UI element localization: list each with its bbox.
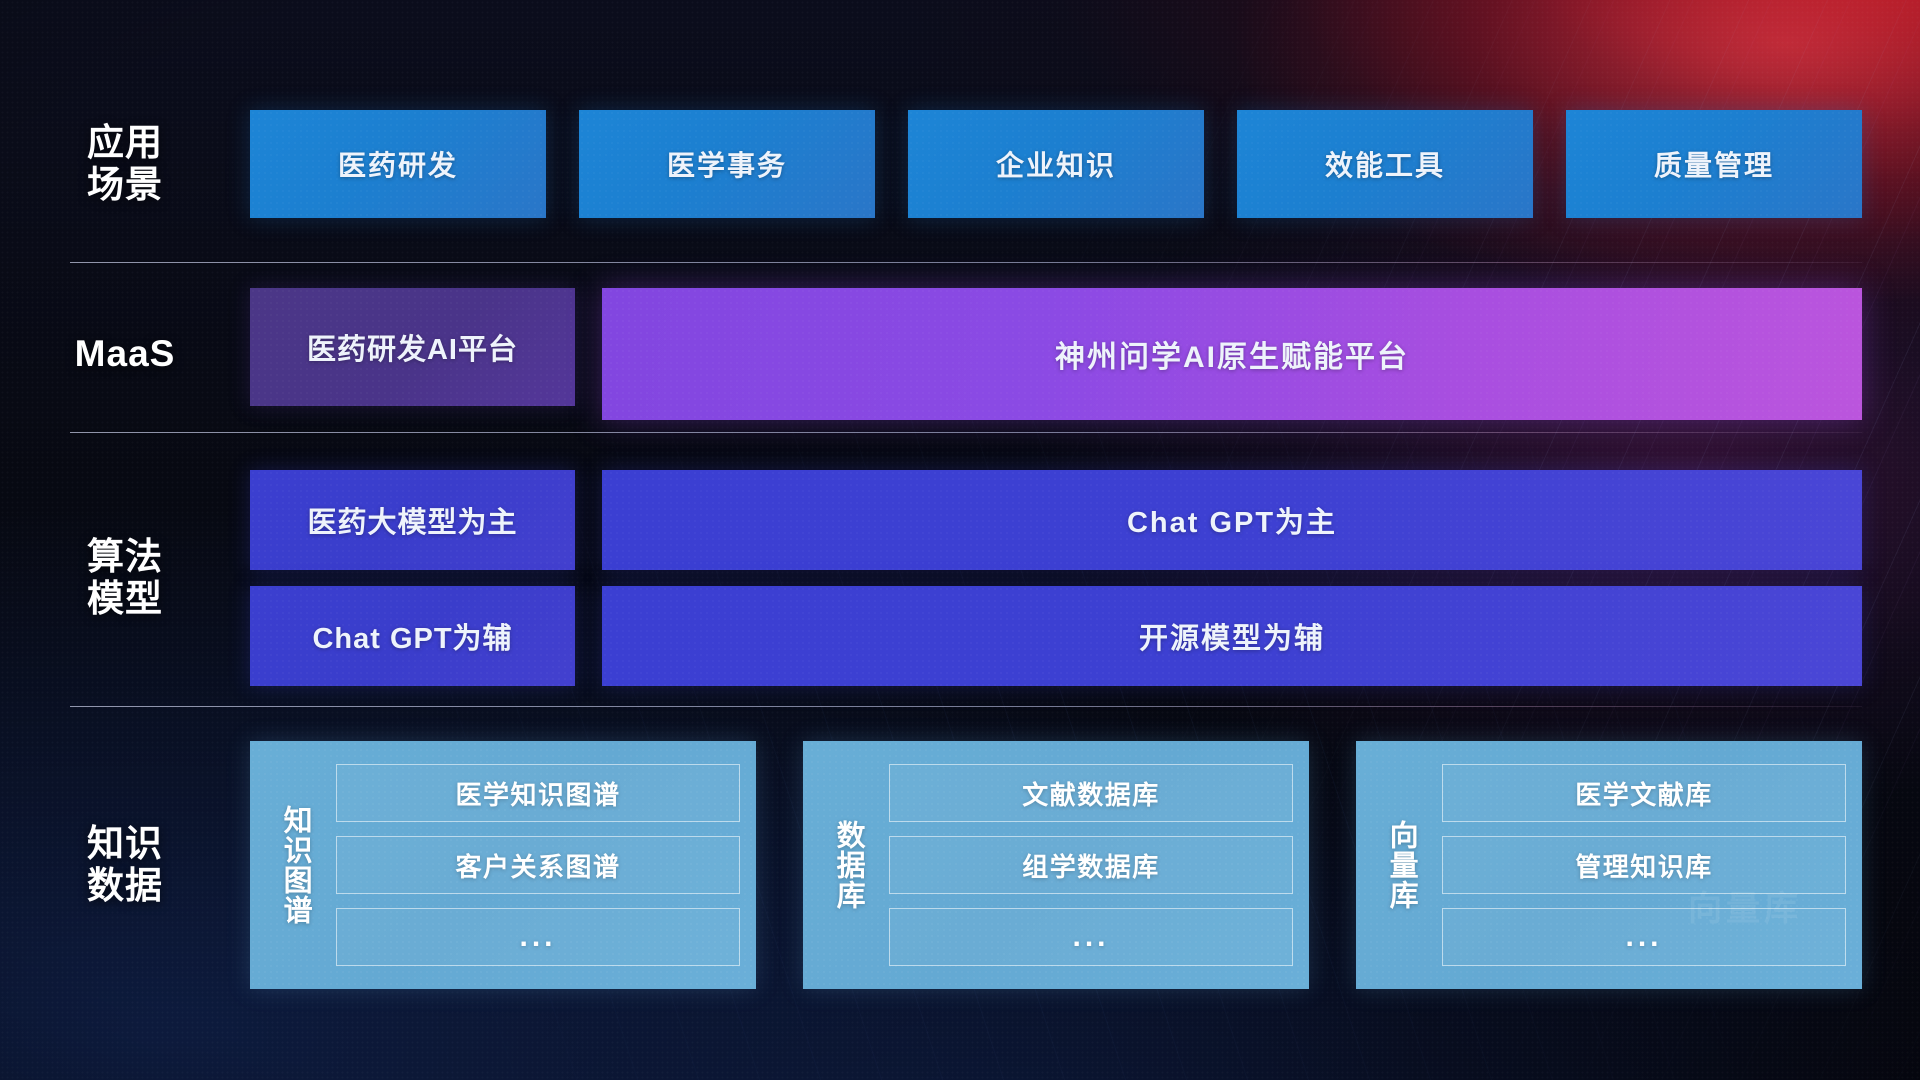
knowledge-item[interactable]: 管理知识库 (1442, 836, 1846, 894)
knowledge-item-more[interactable]: ... (1442, 908, 1846, 966)
knowledge-group-items: 文献数据库 组学数据库 ... (879, 764, 1293, 966)
knowledge-group-title: 数据库 (817, 755, 879, 975)
knowledge-item[interactable]: 医学文献库 (1442, 764, 1846, 822)
knowledge-group-vector-store[interactable]: 向量库 医学文献库 管理知识库 ... (1356, 741, 1862, 989)
app-card-efficiency-tools[interactable]: 效能工具 (1237, 110, 1533, 218)
row-algorithm-models: 算法 模型 医药大模型为主 Chat GPT为主 Chat GPT为辅 开源模型… (0, 460, 1920, 696)
knowledge-item[interactable]: 组学数据库 (889, 836, 1293, 894)
row-application-scenarios: 应用 场景 医药研发 医学事务 企业知识 效能工具 质量管理 (0, 110, 1920, 218)
algo-card-pharma-llm-primary[interactable]: 医药大模型为主 (250, 470, 575, 570)
algorithm-line-secondary: Chat GPT为辅 开源模型为辅 (250, 586, 1862, 686)
app-card-drug-rd[interactable]: 医药研发 (250, 110, 546, 218)
maas-card-label: 神州问学AI原生赋能平台 (1055, 332, 1409, 376)
algorithm-line-primary: 医药大模型为主 Chat GPT为主 (250, 470, 1862, 570)
app-card-quality-management[interactable]: 质量管理 (1566, 110, 1862, 218)
app-card-enterprise-knowledge[interactable]: 企业知识 (908, 110, 1204, 218)
divider-maas-algo (70, 432, 1862, 433)
app-card-label: 企业知识 (996, 144, 1116, 184)
row-label-knowledge-data: 知识 数据 (0, 823, 250, 907)
algo-card-label: 医药大模型为主 (307, 499, 517, 541)
row-label-algorithm-models: 算法 模型 (0, 536, 250, 620)
knowledge-group-title: 知识图谱 (264, 755, 326, 975)
app-card-label: 效能工具 (1325, 144, 1445, 184)
app-card-medical-affairs[interactable]: 医学事务 (579, 110, 875, 218)
algo-card-label: Chat GPT为辅 (312, 615, 512, 657)
knowledge-item[interactable]: 医学知识图谱 (336, 764, 740, 822)
knowledge-group-items: 医学知识图谱 客户关系图谱 ... (326, 764, 740, 966)
knowledge-group-items: 医学文献库 管理知识库 ... (1432, 764, 1846, 966)
knowledge-item[interactable]: 文献数据库 (889, 764, 1293, 822)
application-scenario-cards: 医药研发 医学事务 企业知识 效能工具 质量管理 (250, 110, 1920, 218)
knowledge-item-more[interactable]: ... (336, 908, 740, 966)
row-label-maas: MaaS (0, 333, 250, 375)
row-label-application-scenarios: 应用 场景 (0, 122, 250, 206)
knowledge-group-database[interactable]: 数据库 文献数据库 组学数据库 ... (803, 741, 1309, 989)
knowledge-item-more[interactable]: ... (889, 908, 1293, 966)
knowledge-data-groups: 知识图谱 医学知识图谱 客户关系图谱 ... 数据库 文献数据库 组学数据库 .… (250, 741, 1920, 989)
algo-card-opensource-secondary[interactable]: 开源模型为辅 (602, 586, 1862, 686)
algo-card-chatgpt-primary[interactable]: Chat GPT为主 (602, 470, 1862, 570)
row-knowledge-data: 知识 数据 知识图谱 医学知识图谱 客户关系图谱 ... 数据库 文献数据库 组… (0, 740, 1920, 990)
algo-card-chatgpt-secondary[interactable]: Chat GPT为辅 (250, 586, 575, 686)
algo-card-label: 开源模型为辅 (1139, 615, 1325, 657)
knowledge-group-knowledge-graph[interactable]: 知识图谱 医学知识图谱 客户关系图谱 ... (250, 741, 756, 989)
algorithm-model-cards: 医药大模型为主 Chat GPT为主 Chat GPT为辅 开源模型为辅 (250, 470, 1920, 686)
architecture-diagram: 应用 场景 医药研发 医学事务 企业知识 效能工具 质量管理 (0, 0, 1920, 1080)
maas-card-label: 医药研发AI平台 (307, 326, 518, 368)
algo-card-label: Chat GPT为主 (1127, 499, 1337, 541)
knowledge-group-title: 向量库 (1370, 755, 1432, 975)
app-card-label: 医药研发 (338, 144, 458, 184)
maas-card-shenzhou-wenxue-platform[interactable]: 神州问学AI原生赋能平台 (602, 288, 1862, 420)
maas-card-drug-rd-ai-platform[interactable]: 医药研发AI平台 (250, 288, 575, 406)
divider-algo-know (70, 706, 1862, 707)
knowledge-item[interactable]: 客户关系图谱 (336, 836, 740, 894)
row-maas: MaaS 医药研发AI平台 神州问学AI原生赋能平台 (0, 295, 1920, 413)
app-card-label: 质量管理 (1654, 144, 1774, 184)
slide-stage: 应用 场景 医药研发 医学事务 企业知识 效能工具 质量管理 (0, 0, 1920, 1080)
maas-cards: 医药研发AI平台 神州问学AI原生赋能平台 (250, 288, 1920, 420)
divider-app-maas (70, 262, 1862, 263)
app-card-label: 医学事务 (667, 144, 787, 184)
